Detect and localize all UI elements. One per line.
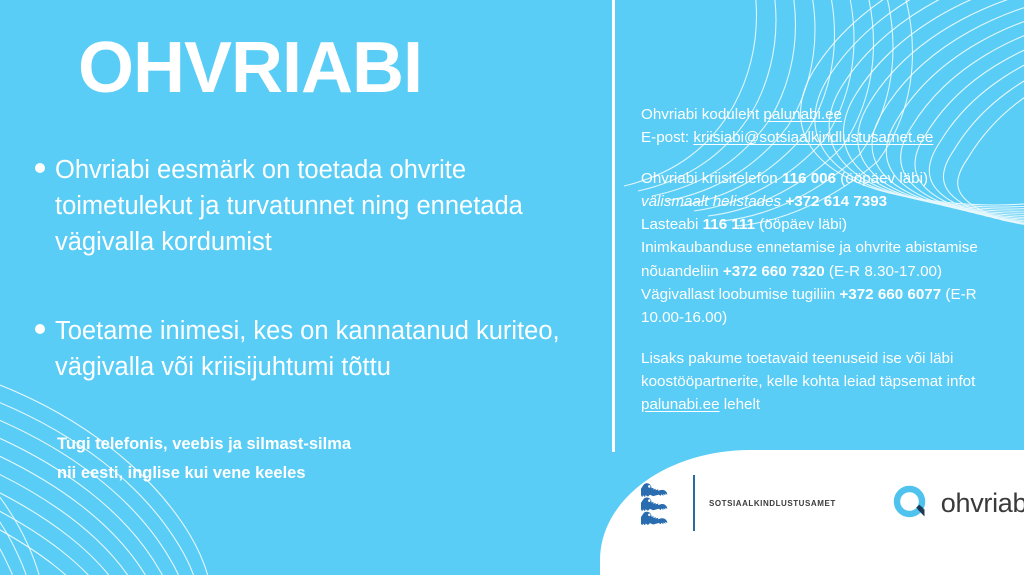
right-column: Ohvriabi koduleht palunabi.ee E-post: kr… — [641, 103, 1013, 416]
agency-name-label: Sotsiaalkindlustusamet — [709, 497, 836, 509]
trafficking-hours: (E-R 8.30-17.00) — [825, 263, 942, 280]
support-note: Tugi telefonis, veebis ja silmast-silma … — [57, 430, 557, 488]
violence-line-entry: Vägivallast loobumise tugiliin +372 660 … — [641, 283, 1013, 329]
list-item-text: Ohvriabi eesmärk on toetada ohvrite toim… — [55, 156, 523, 256]
abroad-line-entry: välismaalt helistades +372 614 7393 — [641, 190, 1013, 213]
abroad-label: välismaalt helistades — [641, 193, 785, 210]
children-line-hours: (ööpäev läbi) — [755, 216, 847, 233]
list-item: Toetame inimesi, kes on kannatanud kurit… — [33, 313, 593, 385]
ohvriabi-circle-mark-icon — [893, 485, 929, 521]
violence-label: Vägivallast loobumise tugiliin — [641, 286, 839, 303]
logo-panel: Sotsiaalkindlustusamet ohvriabi — [600, 450, 1024, 575]
children-line-entry: Lasteabi 116 111 (ööpäev läbi) — [641, 213, 1013, 236]
logo-row: Sotsiaalkindlustusamet ohvriabi — [641, 474, 1024, 532]
extra-text-before: Lisaks pakume toetavaid teenuseid ise võ… — [641, 350, 975, 390]
ohvriabi-wordmark: ohvriabi — [941, 488, 1024, 519]
website-line: Ohvriabi koduleht palunabi.ee — [641, 103, 1013, 126]
extra-text-after: lehelt — [720, 396, 761, 413]
bullet-dot-icon — [35, 324, 45, 334]
email-link[interactable]: kriisiabi@sotsiaalkindlustusamet.ee — [693, 129, 933, 146]
benefits-list: Ohvriabi eesmärk on toetada ohvrite toim… — [33, 152, 593, 385]
website-link[interactable]: palunabi.ee — [763, 106, 842, 123]
support-note-line-2: nii eesti, inglise kui vene keeles — [57, 459, 557, 488]
estonian-coat-of-arms-icon — [641, 481, 677, 525]
ohvriabi-logo: ohvriabi — [893, 485, 1024, 521]
crisis-line-entry: Ohvriabi kriisitelefon 116 006 (ööpäev l… — [641, 167, 1013, 190]
extra-services-block: Lisaks pakume toetavaid teenuseid ise võ… — [641, 347, 1013, 416]
trafficking-line-entry: Inimkaubanduse ennetamise ja ohvrite abi… — [641, 236, 1013, 282]
list-item: Ohvriabi eesmärk on toetada ohvrite toim… — [33, 152, 593, 261]
violence-number: +372 660 6077 — [839, 286, 941, 303]
list-item-text: Toetame inimesi, kes on kannatanud kurit… — [55, 317, 560, 381]
crisis-line-number: 116 006 — [782, 170, 836, 187]
bullet-dot-icon — [35, 163, 45, 173]
extra-website-link[interactable]: palunabi.ee — [641, 396, 720, 413]
left-column: OHVRIABI Ohvriabi eesmärk on toetada ohv… — [0, 0, 600, 575]
children-line-number: 116 111 — [703, 216, 755, 233]
poster-canvas: OHVRIABI Ohvriabi eesmärk on toetada ohv… — [0, 0, 1024, 575]
contact-block: Ohvriabi koduleht palunabi.ee E-post: kr… — [641, 103, 1013, 149]
page-title: OHVRIABI — [78, 32, 422, 104]
support-note-line-1: Tugi telefonis, veebis ja silmast-silma — [57, 430, 557, 459]
email-label: E-post: — [641, 129, 693, 146]
column-divider — [612, 0, 615, 452]
website-label: Ohvriabi koduleht — [641, 106, 763, 123]
email-line: E-post: kriisiabi@sotsiaalkindlustusamet… — [641, 126, 1013, 149]
trafficking-number: +372 660 7320 — [723, 263, 825, 280]
crisis-line-hours: (ööpäev läbi) — [836, 170, 928, 187]
logo-divider — [693, 475, 695, 531]
children-line-label: Lasteabi — [641, 216, 703, 233]
crisis-line-label: Ohvriabi kriisitelefon — [641, 170, 782, 187]
helplines-block: Ohvriabi kriisitelefon 116 006 (ööpäev l… — [641, 167, 1013, 329]
abroad-number: +372 614 7393 — [785, 193, 887, 210]
